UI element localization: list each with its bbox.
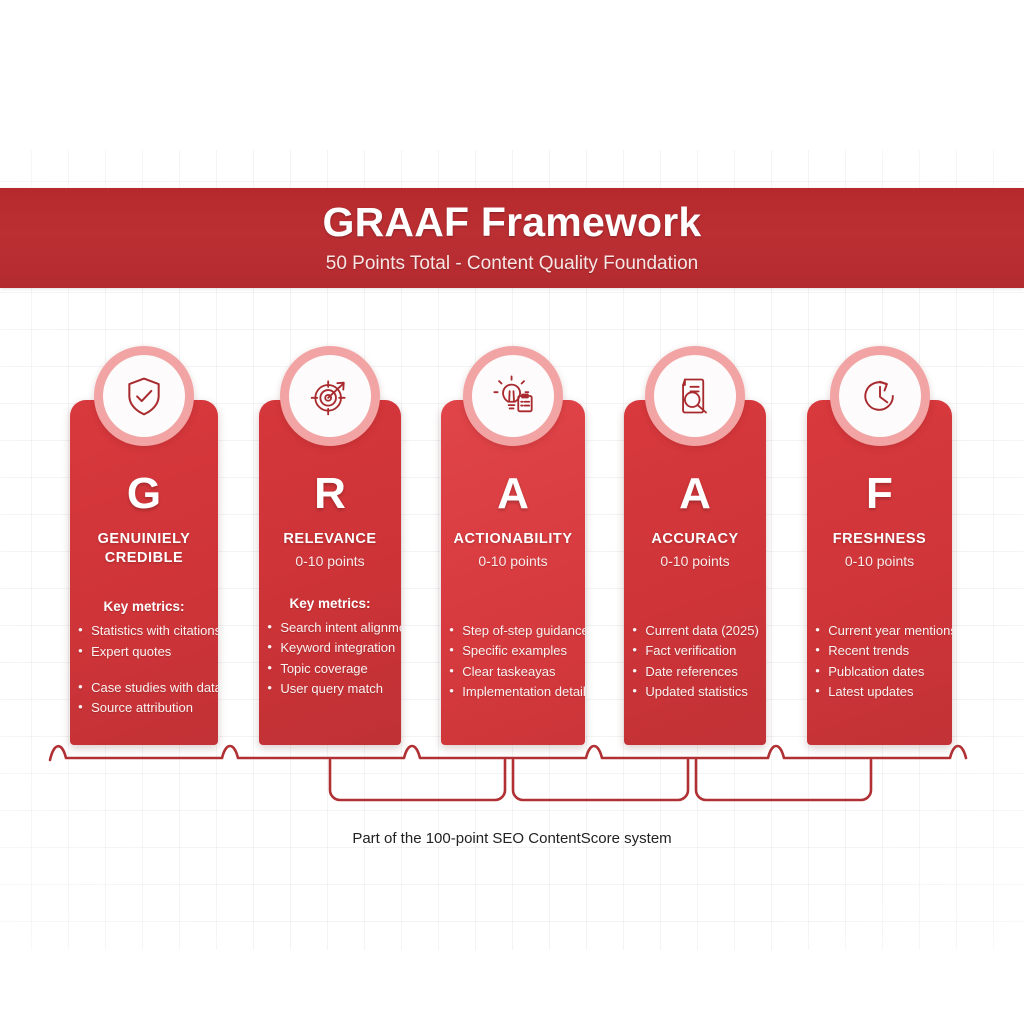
card-points: 0-10 points bbox=[295, 553, 364, 569]
list-item: Expert quotes bbox=[78, 642, 171, 662]
card-surface: F FRESHNESS 0-10 points Current year men… bbox=[807, 400, 952, 745]
card-content: F FRESHNESS 0-10 points Current year men… bbox=[807, 400, 952, 745]
metrics-list: Current year mentions Recent trends Publ… bbox=[807, 621, 952, 702]
lightbulb-checklist-icon bbox=[472, 355, 554, 437]
card-title: ACTIONABILITY bbox=[453, 530, 572, 549]
card-accuracy[interactable]: A ACCURACY 0-10 points Current data (202… bbox=[624, 400, 766, 745]
list-item: Statistics with citations bbox=[78, 621, 218, 641]
list-item: Recent trends bbox=[815, 641, 909, 661]
footer-note: Part of the 100-point SEO ContentScore s… bbox=[0, 830, 1024, 847]
icon-badge bbox=[463, 346, 563, 446]
card-surface: G GENUINIELY CREDIBLE Key metrics: Stati… bbox=[70, 400, 218, 745]
connector-lines bbox=[0, 700, 1024, 820]
card-surface: R RELEVANCE 0-10 points Key metrics: Sea… bbox=[259, 400, 401, 745]
card-title: FRESHNESS bbox=[833, 530, 927, 549]
top-margin bbox=[0, 0, 1024, 150]
list-item: Specific examples bbox=[449, 641, 567, 661]
target-arrow-icon bbox=[289, 355, 371, 437]
bottom-margin bbox=[0, 950, 1024, 1024]
key-metrics-label: Key metrics: bbox=[289, 596, 370, 611]
page-title: GRAAF Framework bbox=[323, 201, 702, 244]
header-banner: GRAAF Framework 50 Points Total - Conten… bbox=[0, 188, 1024, 288]
card-actionability[interactable]: A ACTIONABILITY 0-10 points Step of-step… bbox=[441, 400, 585, 745]
icon-badge bbox=[280, 346, 380, 446]
list-item: Topic coverage bbox=[267, 659, 367, 679]
card-points: 0-10 points bbox=[845, 553, 914, 569]
icon-badge bbox=[645, 346, 745, 446]
icon-badge bbox=[94, 346, 194, 446]
card-points: 0-10 points bbox=[660, 553, 729, 569]
card-title: ACCURACY bbox=[651, 530, 738, 549]
card-letter: R bbox=[314, 472, 346, 516]
list-item: Step of-step guidance bbox=[449, 621, 585, 641]
list-item: Current year mentions bbox=[815, 621, 952, 641]
list-item: User query match bbox=[267, 679, 383, 699]
card-letter: A bbox=[679, 472, 711, 516]
list-item: Date references bbox=[632, 662, 738, 682]
page-subtitle: 50 Points Total - Content Quality Founda… bbox=[326, 253, 699, 275]
card-letter: F bbox=[866, 472, 893, 516]
list-item: Search intent alignment bbox=[267, 618, 401, 638]
shield-check-icon bbox=[103, 355, 185, 437]
clock-refresh-icon bbox=[839, 355, 921, 437]
card-content: A ACTIONABILITY 0-10 points Step of-step… bbox=[441, 400, 585, 745]
card-letter: G bbox=[127, 472, 161, 516]
card-content: G GENUINIELY CREDIBLE Key metrics: Stati… bbox=[70, 400, 218, 745]
list-item: Fact verification bbox=[632, 641, 736, 661]
metrics-list: Step of-step guidance Specific examples … bbox=[441, 621, 585, 702]
card-surface: A ACCURACY 0-10 points Current data (202… bbox=[624, 400, 766, 745]
card-title: GENUINIELY CREDIBLE bbox=[98, 530, 191, 568]
card-content: A ACCURACY 0-10 points Current data (202… bbox=[624, 400, 766, 745]
card-title: RELEVANCE bbox=[283, 530, 376, 549]
list-item: Clear taskeayas bbox=[449, 662, 555, 682]
list-item: Case studies with data bbox=[78, 678, 218, 698]
list-item: Publcation dates bbox=[815, 662, 924, 682]
document-search-icon bbox=[654, 355, 736, 437]
card-surface: A ACTIONABILITY 0-10 points Step of-step… bbox=[441, 400, 585, 745]
metrics-list: Current data (2025) Fact verification Da… bbox=[624, 621, 766, 702]
card-content: R RELEVANCE 0-10 points Key metrics: Sea… bbox=[259, 400, 401, 745]
card-freshness[interactable]: F FRESHNESS 0-10 points Current year men… bbox=[807, 400, 952, 745]
metrics-list: Search intent alignment Keyword integrat… bbox=[259, 618, 401, 699]
list-item: Current data (2025) bbox=[632, 621, 758, 641]
card-points: 0-10 points bbox=[478, 553, 547, 569]
card-relevance[interactable]: R RELEVANCE 0-10 points Key metrics: Sea… bbox=[259, 400, 401, 745]
key-metrics-label: Key metrics: bbox=[103, 599, 184, 614]
icon-badge bbox=[830, 346, 930, 446]
list-item: Keyword integration bbox=[267, 638, 395, 658]
card-letter: A bbox=[497, 472, 529, 516]
card-genuinely-credible[interactable]: G GENUINIELY CREDIBLE Key metrics: Stati… bbox=[70, 400, 218, 745]
